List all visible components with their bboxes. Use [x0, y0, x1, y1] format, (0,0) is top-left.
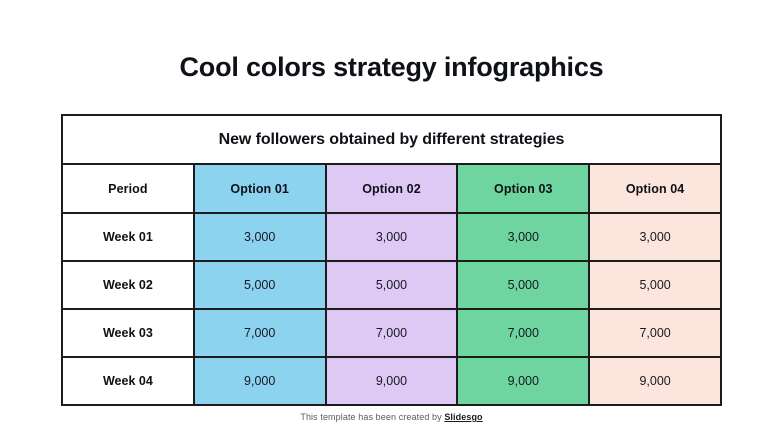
cell-week-04-option-04: 9,000 — [589, 357, 721, 405]
cell-week-02-option-01: 5,000 — [194, 261, 326, 309]
column-header-period: Period — [62, 164, 194, 213]
row-label-week-02: Week 02 — [62, 261, 194, 309]
cell-week-04-option-02: 9,000 — [326, 357, 458, 405]
row-label-week-04: Week 04 — [62, 357, 194, 405]
slidesgo-link[interactable]: Slidesgo — [444, 412, 482, 422]
page-title: Cool colors strategy infographics — [0, 50, 783, 84]
column-header-option-01: Option 01 — [194, 164, 326, 213]
cell-week-01-option-04: 3,000 — [589, 213, 721, 261]
table-caption-row: New followers obtained by different stra… — [62, 115, 721, 164]
cell-week-03-option-03: 7,000 — [457, 309, 589, 357]
table-header-row: Period Option 01 Option 02 Option 03 Opt… — [62, 164, 721, 213]
infographic-table: New followers obtained by different stra… — [61, 114, 722, 406]
cell-week-01-option-01: 3,000 — [194, 213, 326, 261]
footer-credit: This template has been created by Slides… — [0, 412, 783, 422]
cell-week-03-option-01: 7,000 — [194, 309, 326, 357]
table-row: Week 02 5,000 5,000 5,000 5,000 — [62, 261, 721, 309]
cell-week-01-option-02: 3,000 — [326, 213, 458, 261]
slide-canvas: Cool colors strategy infographics New fo… — [0, 0, 783, 440]
table-row: Week 01 3,000 3,000 3,000 3,000 — [62, 213, 721, 261]
table-row: Week 03 7,000 7,000 7,000 7,000 — [62, 309, 721, 357]
cell-week-02-option-03: 5,000 — [457, 261, 589, 309]
cell-week-02-option-02: 5,000 — [326, 261, 458, 309]
row-label-week-01: Week 01 — [62, 213, 194, 261]
column-header-option-02: Option 02 — [326, 164, 458, 213]
footer-text: This template has been created by — [300, 412, 444, 422]
table-row: Week 04 9,000 9,000 9,000 9,000 — [62, 357, 721, 405]
infographic-table-container: New followers obtained by different stra… — [61, 114, 722, 395]
cell-week-01-option-03: 3,000 — [457, 213, 589, 261]
cell-week-02-option-04: 5,000 — [589, 261, 721, 309]
column-header-option-04: Option 04 — [589, 164, 721, 213]
table-caption: New followers obtained by different stra… — [62, 115, 721, 164]
column-header-option-03: Option 03 — [457, 164, 589, 213]
cell-week-04-option-03: 9,000 — [457, 357, 589, 405]
cell-week-03-option-02: 7,000 — [326, 309, 458, 357]
cell-week-03-option-04: 7,000 — [589, 309, 721, 357]
cell-week-04-option-01: 9,000 — [194, 357, 326, 405]
row-label-week-03: Week 03 — [62, 309, 194, 357]
